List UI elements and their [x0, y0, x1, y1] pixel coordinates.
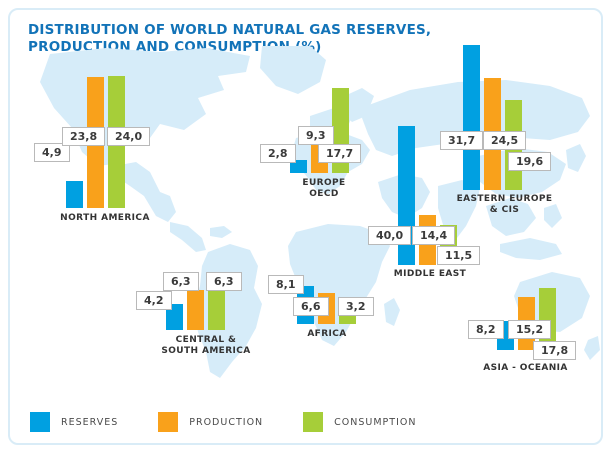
cluster-central-south-america	[166, 288, 246, 330]
value-consumption-europe-oecd: 17,7	[318, 144, 361, 163]
bar-consumption-central-south-america	[208, 290, 225, 330]
region-label-central-south-america: CENTRAL & SOUTH AMERICA	[141, 335, 271, 357]
value-production-middle-east: 14,4	[412, 226, 455, 245]
value-reserves-asia-oceania: 8,2	[468, 320, 504, 339]
region-label-asia-oceania: ASIA - OCEANIA	[458, 363, 593, 374]
value-reserves-central-south-america: 4,2	[136, 291, 172, 310]
value-reserves-middle-east: 40,0	[368, 226, 411, 245]
value-consumption-africa: 3,2	[338, 297, 374, 316]
value-consumption-central-south-america: 6,3	[206, 272, 242, 291]
value-reserves-europe-oecd: 2,8	[260, 144, 296, 163]
value-production-europe-oecd: 9,3	[298, 126, 334, 145]
legend-label-production: PRODUCTION	[189, 417, 263, 428]
bar-production-central-south-america	[187, 290, 204, 330]
bars-central-south-america	[166, 288, 225, 330]
value-production-central-south-america: 6,3	[163, 272, 199, 291]
legend-item-reserves: RESERVES	[30, 412, 118, 432]
legend-label-consumption: CONSUMPTION	[334, 417, 416, 428]
legend-swatch-production-icon	[158, 412, 178, 432]
value-consumption-eastern-europe-cis: 19,6	[508, 152, 551, 171]
region-label-africa: AFRICA	[272, 329, 382, 340]
value-production-north-america: 23,8	[62, 127, 105, 146]
page-title-line-1: DISTRIBUTION OF WORLD NATURAL GAS RESERV…	[28, 22, 548, 39]
value-production-eastern-europe-cis: 24,5	[483, 131, 526, 150]
region-label-europe-oecd: EUROPE OECD	[264, 178, 384, 200]
value-reserves-africa: 8,1	[268, 275, 304, 294]
value-production-africa: 6,6	[293, 297, 329, 316]
region-label-north-america: NORTH AMERICA	[40, 213, 170, 224]
value-consumption-asia-oceania: 17,8	[533, 341, 576, 360]
legend-item-consumption: CONSUMPTION	[303, 412, 416, 432]
bar-reserves-north-america	[66, 181, 83, 208]
legend-label-reserves: RESERVES	[61, 417, 118, 428]
legend-item-production: PRODUCTION	[158, 412, 263, 432]
infographic-root: DISTRIBUTION OF WORLD NATURAL GAS RESERV…	[0, 0, 611, 453]
legend-swatch-reserves-icon	[30, 412, 50, 432]
value-consumption-middle-east: 11,5	[437, 246, 480, 265]
region-label-middle-east: MIDDLE EAST	[370, 269, 490, 280]
value-consumption-north-america: 24,0	[107, 127, 150, 146]
value-production-asia-oceania: 15,2	[508, 320, 551, 339]
legend: RESERVES PRODUCTION CONSUMPTION	[30, 412, 456, 432]
legend-swatch-consumption-icon	[303, 412, 323, 432]
